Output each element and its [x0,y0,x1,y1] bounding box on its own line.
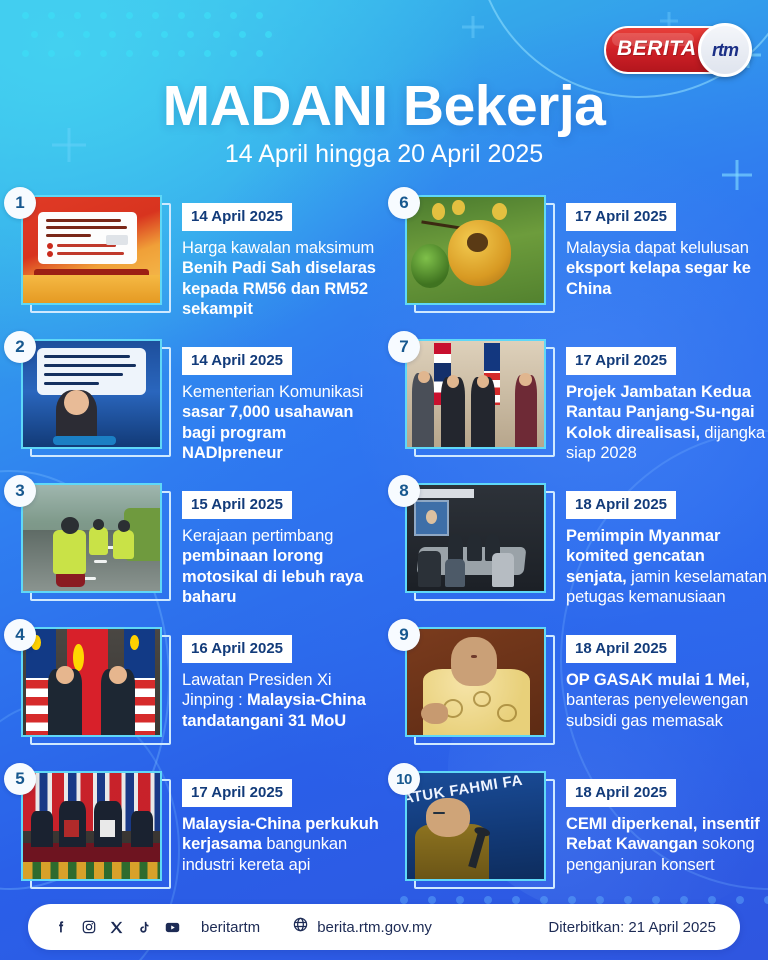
item-number-badge: 9 [388,619,420,651]
thumbnail[interactable]: 6 [402,193,554,311]
item-headline: Harga kawalan maksimum Benih Padi Sah di… [182,238,384,320]
thumbnail-photo [21,627,162,737]
item-headline: Malaysia-China perkukuh kerjasama bangun… [182,814,384,875]
thumbnail[interactable]: 9 [402,625,554,743]
rtm-badge-text: rtm [712,40,738,61]
item-headline: CEMI diperkenal, insentif Rebat Kawangan… [566,814,768,875]
thumbnail-photo [405,195,546,305]
item-number-badge: 1 [4,187,36,219]
item-headline: OP GASAK mulai 1 Mei, banteras penyelewe… [566,670,768,731]
item-date: 17 April 2025 [566,203,676,231]
social-links: beritartm [52,919,260,936]
item-number-badge: 4 [4,619,36,651]
youtube-icon[interactable] [164,919,181,936]
globe-icon [292,916,309,938]
footer-bar: beritartm berita.rtm.gov.my Diterbitkan:… [28,904,740,950]
thumbnail[interactable]: 7 [402,337,554,455]
item-date: 17 April 2025 [182,779,292,807]
thumbnail[interactable]: 2 [18,337,170,455]
item-headline: Malaysia dapat kelulusan eksport kelapa … [566,238,768,299]
list-item[interactable]: 2 14 April 2025 Kementerian Komunikasi s… [0,337,384,481]
instagram-icon[interactable] [80,919,97,936]
x-twitter-icon[interactable] [108,919,125,936]
item-date: 15 April 2025 [182,491,292,519]
list-item[interactable]: 4 16 April 2025 Lawatan Pres [0,625,384,769]
item-number-badge: 7 [388,331,420,363]
item-date: 14 April 2025 [182,203,292,231]
thumbnail[interactable]: 5 [18,769,170,887]
thumbnail-photo [405,339,546,449]
logo-text: BERITA [617,37,697,61]
dot-grid-pattern [22,12,272,69]
item-number-badge: 8 [388,475,420,507]
plus-icon [462,16,484,38]
list-item[interactable]: 3 15 April 2025 Kerajaan per [0,481,384,625]
website-block[interactable]: berita.rtm.gov.my [292,916,432,938]
website-url: berita.rtm.gov.my [317,919,432,936]
page-title: MADANI Bekerja [0,78,768,135]
item-date: 17 April 2025 [566,347,676,375]
item-headline: Projek Jambatan Kedua Rantau Panjang-Su-… [566,382,768,464]
item-number-badge: 3 [4,475,36,507]
item-date: 18 April 2025 [566,491,676,519]
thumbnail-photo [21,339,162,449]
published-date: Diterbitkan: 21 April 2025 [548,919,716,936]
rtm-badge: rtm [698,23,752,77]
thumbnail[interactable]: 8 [402,481,554,599]
item-headline: Kementerian Komunikasi sasar 7,000 usaha… [182,382,384,464]
item-number-badge: 6 [388,187,420,219]
item-date: 16 April 2025 [182,635,292,663]
thumbnail-photo [405,627,546,737]
item-date: 14 April 2025 [182,347,292,375]
berita-rtm-logo: BERITA rtm [604,26,750,74]
item-headline: Kerajaan pertimbang pembinaan lorong mot… [182,526,384,608]
thumbnail-photo: ATUK FAHMI FA [405,771,546,881]
thumbnail-photo [405,483,546,593]
thumbnail[interactable]: 1 [18,193,170,311]
list-item[interactable]: 5 17 April 2025 Malaysia-China perkukuh … [0,769,384,913]
list-item[interactable]: 6 17 April 2025 Malaysia dapat kelulusan… [384,193,768,337]
item-number-badge: 5 [4,763,36,795]
item-headline: Lawatan Presiden Xi Jinping : Malaysia-C… [182,670,384,731]
list-item[interactable]: 10 ATUK FAHMI FA 18 April 2025 CEMI dipe… [384,769,768,913]
thumbnail[interactable]: 4 [18,625,170,743]
item-number-badge: 2 [4,331,36,363]
list-item[interactable]: 8 18 April 2025 Pemimpin Mya [384,481,768,625]
thumbnail-photo [21,195,162,305]
item-date: 18 April 2025 [566,635,676,663]
item-headline: Pemimpin Myanmar komited gencatan senjat… [566,526,768,608]
thumbnail[interactable]: 3 [18,481,170,599]
facebook-icon[interactable] [52,919,69,936]
thumbnail-banner-text: ATUK FAHMI FA [405,771,546,808]
list-item[interactable]: 9 18 April 2025 OP GASAK mulai 1 Mei, ba… [384,625,768,769]
item-date: 18 April 2025 [566,779,676,807]
thumbnail-photo [21,771,162,881]
thumbnail-photo [21,483,162,593]
list-item[interactable]: 1 14 April 2025 Harga kawalan maksimum [0,193,384,337]
page-subtitle: 14 April hingga 20 April 2025 [0,140,768,169]
social-handle: beritartm [201,919,260,936]
thumbnail[interactable]: 10 ATUK FAHMI FA [402,769,554,887]
list-item[interactable]: 7 17 April 2025 Projek Jambatan Kedua Ra… [384,337,768,481]
news-items-grid: 1 14 April 2025 Harga kawalan maksimum [0,193,768,913]
infographic-poster: BERITA rtm MADANI Bekerja 14 April hingg… [0,0,768,960]
tiktok-icon[interactable] [136,919,153,936]
item-number-badge: 10 [388,763,420,795]
